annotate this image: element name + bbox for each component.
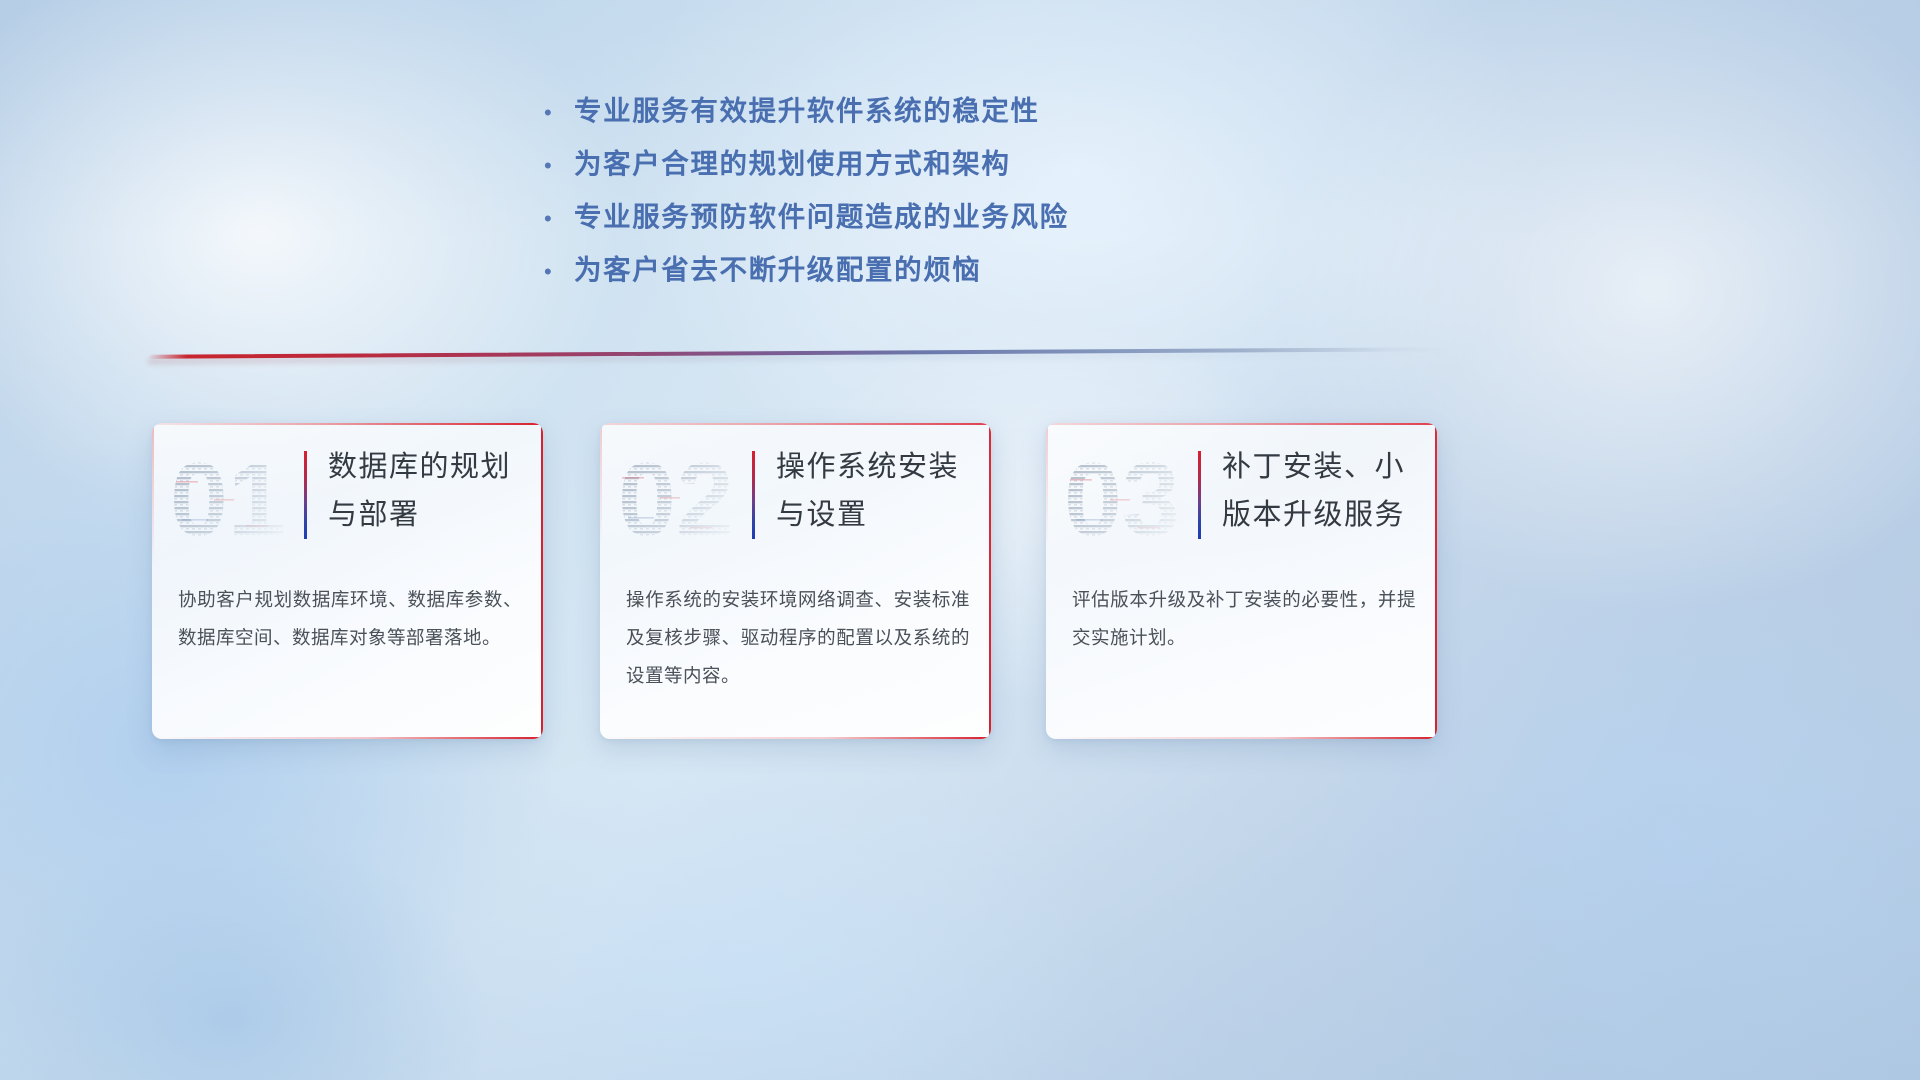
card-title: 数据库的规划与部署 [328,443,528,539]
striped-number-icon: 01 [168,447,300,553]
card-header: 03 补丁安装、小版本升级服务 [1046,441,1437,561]
svg-text:02: 02 [618,447,734,553]
card-description: 协助客户规划数据库环境、数据库参数、数据库空间、数据库对象等部署落地。 [178,581,522,657]
bullet-dot-icon: • [540,102,574,124]
service-card[interactable]: 02 操作系统安装与设置 操作系统的安装环境网络调查、安装标准及复核步骤、驱动程… [600,423,991,739]
card-number-watermark: 03 [1062,447,1194,553]
card-divider-bar [1198,451,1201,539]
card-accent-bottom [152,737,543,739]
card-accent-bottom [600,737,991,739]
card-header: 01 数据库的规划与部署 [152,441,543,561]
list-item-label: 专业服务预防软件问题造成的业务风险 [574,194,1069,234]
card-divider-bar [752,451,755,539]
striped-number-icon: 02 [616,447,748,553]
card-header: 02 操作系统安装与设置 [600,441,991,561]
card-description: 评估版本升级及补丁安装的必要性，并提交实施计划。 [1072,581,1416,657]
benefits-bullet-list: • 专业服务有效提升软件系统的稳定性 • 为客户合理的规划使用方式和架构 • 专… [540,88,1180,300]
card-accent-top [152,423,543,425]
list-item-label: 为客户省去不断升级配置的烦恼 [574,247,981,287]
card-description: 操作系统的安装环境网络调查、安装标准及复核步骤、驱动程序的配置以及系统的设置等内… [626,581,970,695]
list-item-label: 为客户合理的规划使用方式和架构 [574,141,1011,181]
card-accent-bottom [1046,737,1437,739]
list-item: • 为客户省去不断升级配置的烦恼 [540,247,1180,300]
card-divider-bar [304,451,307,539]
bullet-dot-icon: • [540,208,574,230]
service-card-group: 01 数据库的规划与部署 协助客户规划数据库环境、数据库参数、数据库空间、数据库… [0,423,1920,743]
card-title: 操作系统安装与设置 [776,443,976,539]
list-item: • 专业服务有效提升软件系统的稳定性 [540,88,1180,141]
card-accent-top [600,423,991,425]
card-accent-top [1046,423,1437,425]
card-title: 补丁安装、小版本升级服务 [1222,443,1422,539]
bullet-dot-icon: • [540,261,574,283]
striped-number-icon: 03 [1062,447,1194,553]
list-item: • 专业服务预防软件问题造成的业务风险 [540,194,1180,247]
bullet-dot-icon: • [540,155,574,177]
list-item: • 为客户合理的规划使用方式和架构 [540,141,1180,194]
service-card[interactable]: 03 补丁安装、小版本升级服务 评估版本升级及补丁安装的必要性，并提交实施计划。 [1046,423,1437,739]
section-divider [148,347,1448,363]
card-number-watermark: 02 [616,447,748,553]
service-card[interactable]: 01 数据库的规划与部署 协助客户规划数据库环境、数据库参数、数据库空间、数据库… [152,423,543,739]
list-item-label: 专业服务有效提升软件系统的稳定性 [574,88,1040,128]
card-number-watermark: 01 [168,447,300,553]
